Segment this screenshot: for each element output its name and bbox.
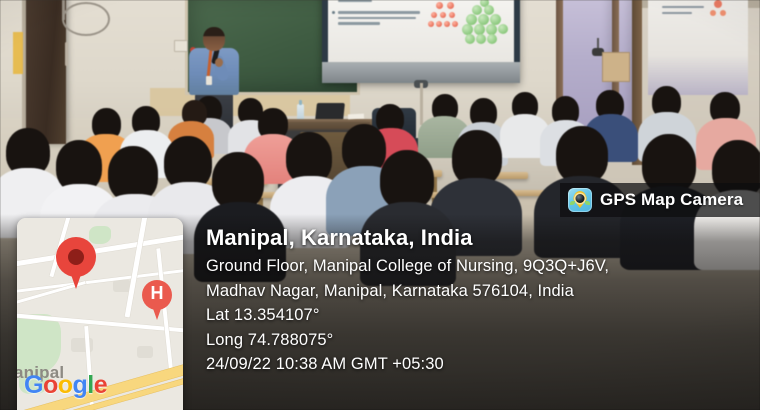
secondary-display: [648, 0, 748, 95]
google-attribution-logo: Google: [24, 371, 107, 400]
slide-bullet-text: [338, 0, 424, 28]
screen-stand-pole: [420, 83, 423, 125]
projected-slide: [328, 0, 514, 62]
address-line-1: Ground Floor, Manipal College of Nursing…: [206, 254, 754, 279]
logo-camera-lens-icon: [576, 194, 585, 203]
wall-ring-fixture: [62, 2, 110, 36]
gps-map-camera-badge: GPS Map Camera: [560, 183, 760, 217]
wall-yellow-patch: [13, 32, 23, 74]
light-switch-icon: [174, 40, 188, 52]
location-text-block: Manipal, Karnataka, India Ground Floor, …: [206, 224, 754, 377]
logo-leaf-left: [570, 201, 575, 205]
hospital-marker-icon: H: [142, 280, 172, 320]
door-icon: [26, 0, 66, 144]
wall-notice-board: [602, 52, 630, 82]
speaker-head: [203, 27, 225, 51]
screenshot-root: GPS Map Camera anipal G: [0, 0, 760, 410]
app-name-label: GPS Map Camera: [600, 190, 743, 210]
latitude-value: Lat 13.354107°: [206, 303, 754, 328]
gps-map-camera-logo-icon: [568, 188, 592, 212]
hospital-letter: H: [142, 283, 172, 304]
longitude-value: Long 74.788075°: [206, 328, 754, 353]
logo-leaf-right: [585, 201, 590, 205]
location-title: Manipal, Karnataka, India: [206, 224, 754, 251]
id-badge-icon: [206, 76, 212, 85]
speaker-hand: [215, 58, 223, 67]
pin-center-dot: [68, 249, 84, 265]
audience-person: [380, 150, 434, 210]
map-location-pin-icon: [56, 237, 96, 289]
paper-sheet: [348, 114, 364, 120]
timestamp-value: 24/09/22 10:38 AM GMT +05:30: [206, 352, 754, 377]
projection-screen-icon: [322, 0, 520, 83]
address-line-2: Madhav Nagar, Manipal, Karnataka 576104,…: [206, 279, 754, 304]
door-handle-icon: [65, 42, 68, 66]
